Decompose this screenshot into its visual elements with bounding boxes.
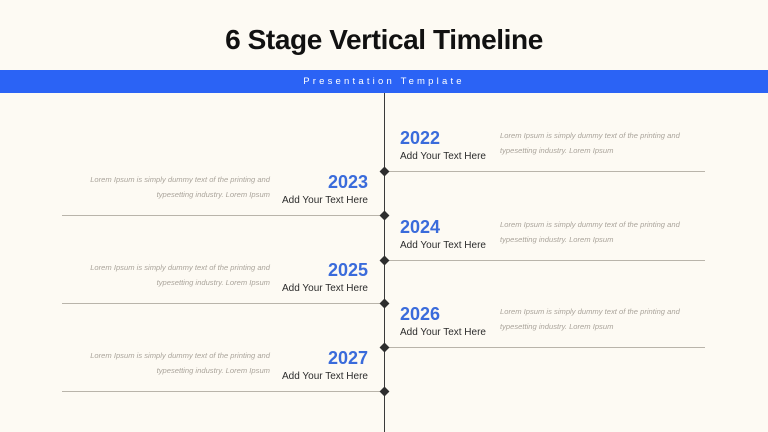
stage-description: Lorem Ipsum is simply dummy text of the … — [500, 217, 705, 247]
timeline-row: 2023Add Your Text HereLorem Ipsum is sim… — [0, 172, 768, 216]
timeline-row: 2024Add Your Text HereLorem Ipsum is sim… — [0, 217, 768, 261]
timeline-row: 2026Add Your Text HereLorem Ipsum is sim… — [0, 304, 768, 348]
presentation-banner: Presentation Template — [0, 70, 768, 93]
timeline-connector-line — [62, 391, 385, 392]
stage-description: Lorem Ipsum is simply dummy text of the … — [62, 260, 270, 290]
banner-label: Presentation Template — [303, 76, 465, 87]
stage-description: Lorem Ipsum is simply dummy text of the … — [62, 172, 270, 202]
timeline-connector-line — [62, 215, 385, 216]
timeline-row: 2027Add Your Text HereLorem Ipsum is sim… — [0, 348, 768, 392]
page-title: 6 Stage Vertical Timeline — [0, 24, 768, 56]
timeline-row: 2022Add Your Text HereLorem Ipsum is sim… — [0, 128, 768, 172]
timeline-node-marker — [380, 387, 390, 397]
stage-description: Lorem Ipsum is simply dummy text of the … — [500, 304, 705, 334]
stage-description: Lorem Ipsum is simply dummy text of the … — [62, 348, 270, 378]
stage-description: Lorem Ipsum is simply dummy text of the … — [500, 128, 705, 158]
timeline-row: 2025Add Your Text HereLorem Ipsum is sim… — [0, 260, 768, 304]
